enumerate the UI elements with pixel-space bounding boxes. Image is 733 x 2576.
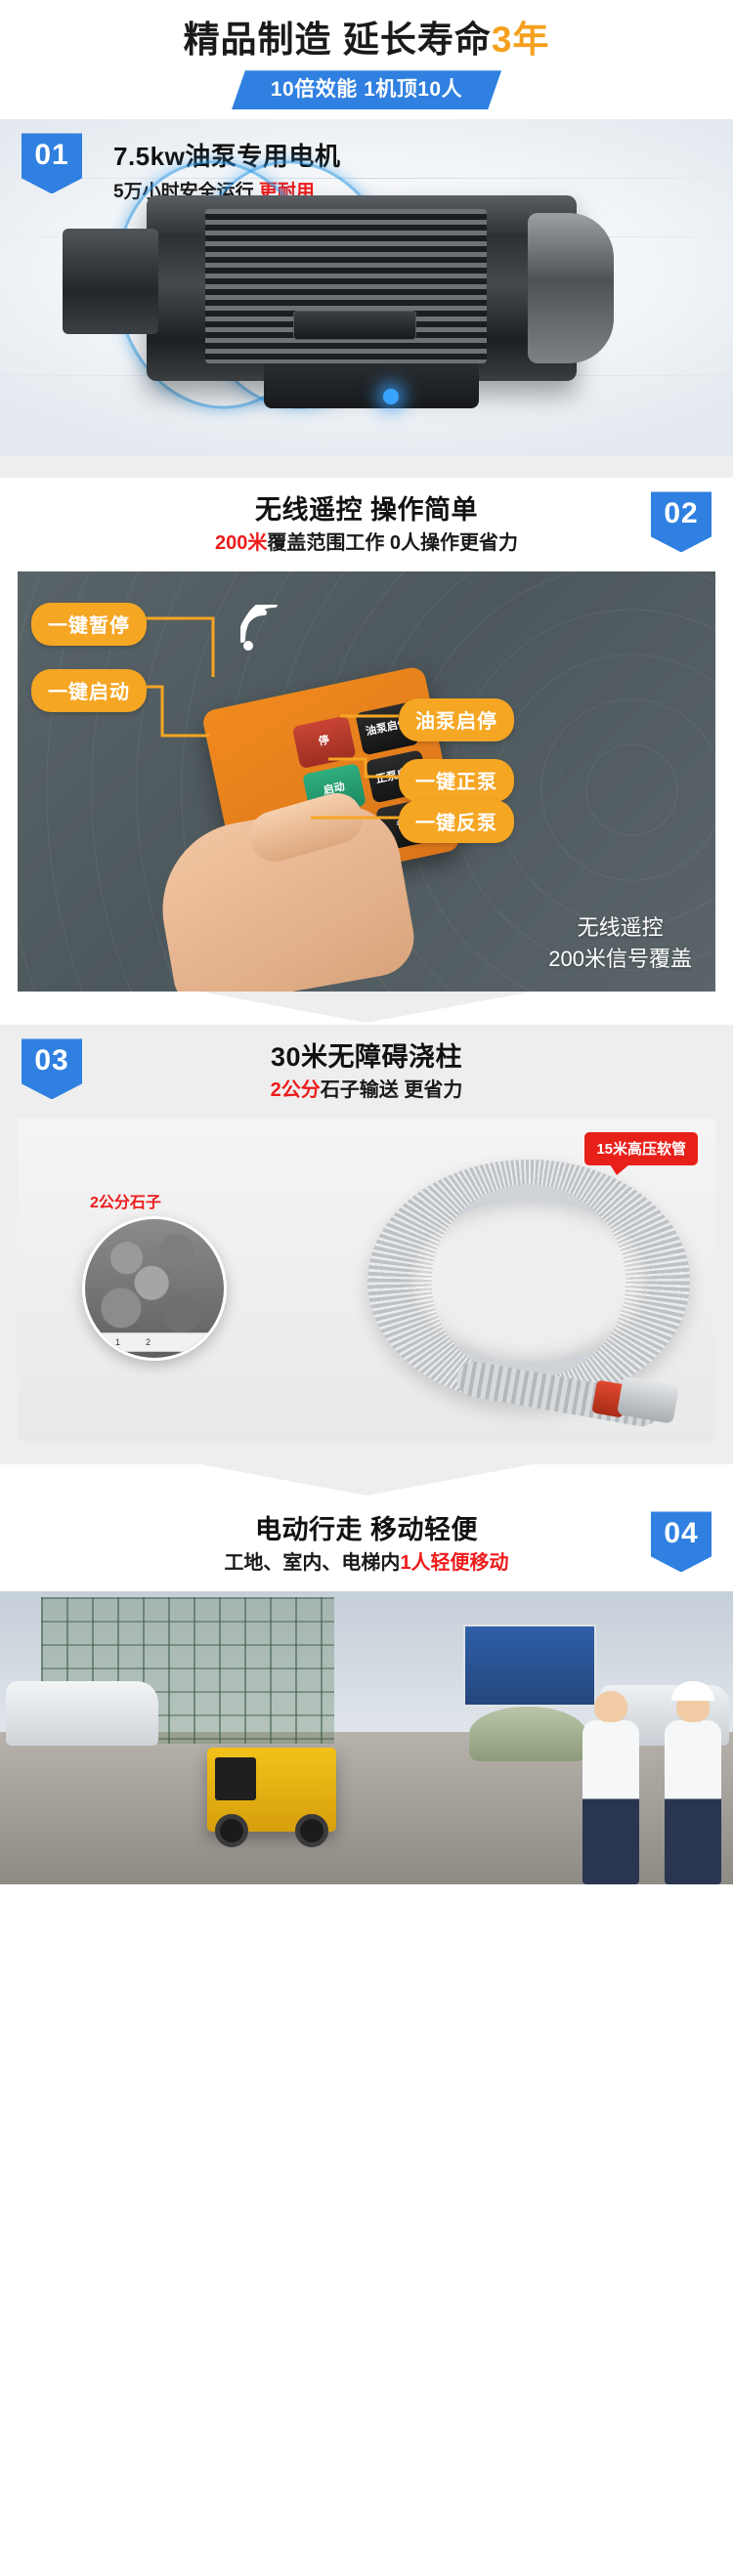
section-03-body: 15米高压软管 2公分石子 1 2 <box>0 1119 733 1464</box>
page-title: 精品制造 延长寿命3年 <box>0 18 733 63</box>
ruler-mark-2: 2 <box>146 1337 151 1347</box>
motor-illustration <box>147 195 577 381</box>
section-02-subtitle-accent: 200米 <box>215 532 267 554</box>
remote-footnote: 无线遥控 200米信号覆盖 <box>548 912 692 975</box>
section-03-head: 03 30米无障碍浇柱 2公分石子输送 更省力 <box>0 1025 733 1119</box>
callout-pause: 一键暂停 <box>31 603 147 646</box>
motor-terminal-box <box>293 311 416 340</box>
section-03-subtitle-plain: 石子输送 更省力 <box>321 1079 463 1101</box>
motor-junction-box <box>63 229 158 334</box>
section-02-title: 无线遥控 操作简单 <box>215 493 518 528</box>
hose-photo: 15米高压软管 2公分石子 1 2 <box>18 1119 715 1441</box>
callout-pump-toggle: 油泵启停 <box>399 698 514 741</box>
ruler-mark-1: 1 <box>115 1337 120 1347</box>
section-number-badge-01: 01 <box>22 133 82 193</box>
motor-photo: 01 7.5kw油泵专用电机 5万小时安全运行 更耐用 <box>0 119 733 456</box>
section-03-titles: 30米无障碍浇柱 2公分石子输送 更省力 <box>271 1040 463 1103</box>
callout-pump-forward: 一键正泵 <box>399 759 514 802</box>
motor-end-cap <box>528 213 614 363</box>
callout-pump-reverse: 一键反泵 <box>399 800 514 843</box>
section-divider-chevron <box>0 992 733 1025</box>
white-van <box>6 1681 158 1746</box>
section-04-subtitle-accent: 1人轻便移动 <box>400 1552 508 1574</box>
header-ribbon: 10倍效能 1机顶10人 <box>232 70 501 109</box>
product-detail-page: 精品制造 延长寿命3年 10倍效能 1机顶10人 01 7.5kw油泵专用电机 … <box>0 0 733 1884</box>
section-02: 无线遥控 操作简单 200米覆盖范围工作 0人操作更省力 02 停 油泵启停 <box>0 478 733 992</box>
covered-materials <box>469 1707 586 1761</box>
divider <box>0 456 733 478</box>
page-title-main: 精品制造 延长寿命 <box>184 20 492 60</box>
worker-figure <box>665 1720 721 1884</box>
section-02-head: 无线遥控 操作简单 200米覆盖范围工作 0人操作更省力 02 <box>0 478 733 571</box>
site-signboard <box>463 1625 596 1707</box>
section-04-titles: 电动行走 移动轻便 工地、室内、电梯内1人轻便移动 <box>224 1513 508 1576</box>
section-divider-chevron <box>0 1464 733 1498</box>
section-04-head: 电动行走 移动轻便 工地、室内、电梯内1人轻便移动 04 <box>0 1498 733 1591</box>
motor-cooling-fins <box>205 209 487 363</box>
header-ribbon-wrap: 10倍效能 1机顶10人 <box>0 70 733 109</box>
jobsite-photo <box>0 1591 733 1884</box>
hose-length-badge: 15米高压软管 <box>584 1132 698 1165</box>
section-03-subtitle-accent: 2公分 <box>271 1079 321 1101</box>
concrete-pump-machine <box>207 1748 336 1832</box>
section-number-badge-03: 03 <box>22 1038 82 1099</box>
remote-footnote-line2: 200米信号覆盖 <box>548 944 692 975</box>
machine-hopper <box>215 1757 256 1800</box>
section-04-subtitle-plain: 工地、室内、电梯内 <box>224 1552 400 1574</box>
section-03-subtitle: 2公分石子输送 更省力 <box>271 1078 463 1104</box>
bg-streak <box>0 178 733 179</box>
remote-footnote-line1: 无线遥控 <box>548 912 692 944</box>
stone-ruler: 1 2 <box>101 1332 208 1352</box>
section-03: 03 30米无障碍浇柱 2公分石子输送 更省力 15米高压软管 2公分石子 1 <box>0 1025 733 1464</box>
section-number-04: 04 <box>664 1517 698 1550</box>
page-title-accent: 3年 <box>492 20 550 60</box>
section-01: 01 7.5kw油泵专用电机 5万小时安全运行 更耐用 <box>0 119 733 456</box>
section-04-title: 电动行走 移动轻便 <box>224 1513 508 1547</box>
section-number-02: 02 <box>664 497 698 530</box>
section-02-titles: 无线遥控 操作简单 200米覆盖范围工作 0人操作更省力 <box>215 493 518 556</box>
remote-control-photo: 停 油泵启停 启动 正泵启停 备用 备用 一键暂停 一键启动 油泵启停 一键正泵 <box>18 571 715 992</box>
section-02-subtitle: 200米覆盖范围工作 0人操作更省力 <box>215 531 518 557</box>
worker-figure <box>582 1720 639 1884</box>
section-number-badge-02: 02 <box>651 491 711 552</box>
motor-base <box>264 363 479 408</box>
section-number-badge-04: 04 <box>651 1511 711 1572</box>
stone-size-label: 2公分石子 <box>90 1189 161 1212</box>
section-number-03: 03 <box>34 1044 68 1077</box>
page-header: 精品制造 延长寿命3年 10倍效能 1机顶10人 <box>0 0 733 119</box>
section-number-01: 01 <box>34 139 68 172</box>
worker-head <box>594 1691 627 1722</box>
callout-start: 一键启动 <box>31 669 147 712</box>
section-02-subtitle-plain: 覆盖范围工作 0人操作更省力 <box>267 532 518 554</box>
section-03-title: 30米无障碍浇柱 <box>271 1040 463 1075</box>
section-04: 电动行走 移动轻便 工地、室内、电梯内1人轻便移动 04 <box>0 1498 733 1884</box>
stone-photo: 1 2 <box>82 1216 227 1361</box>
hose-coil-illustration <box>367 1160 690 1404</box>
section-04-subtitle: 工地、室内、电梯内1人轻便移动 <box>224 1551 508 1577</box>
